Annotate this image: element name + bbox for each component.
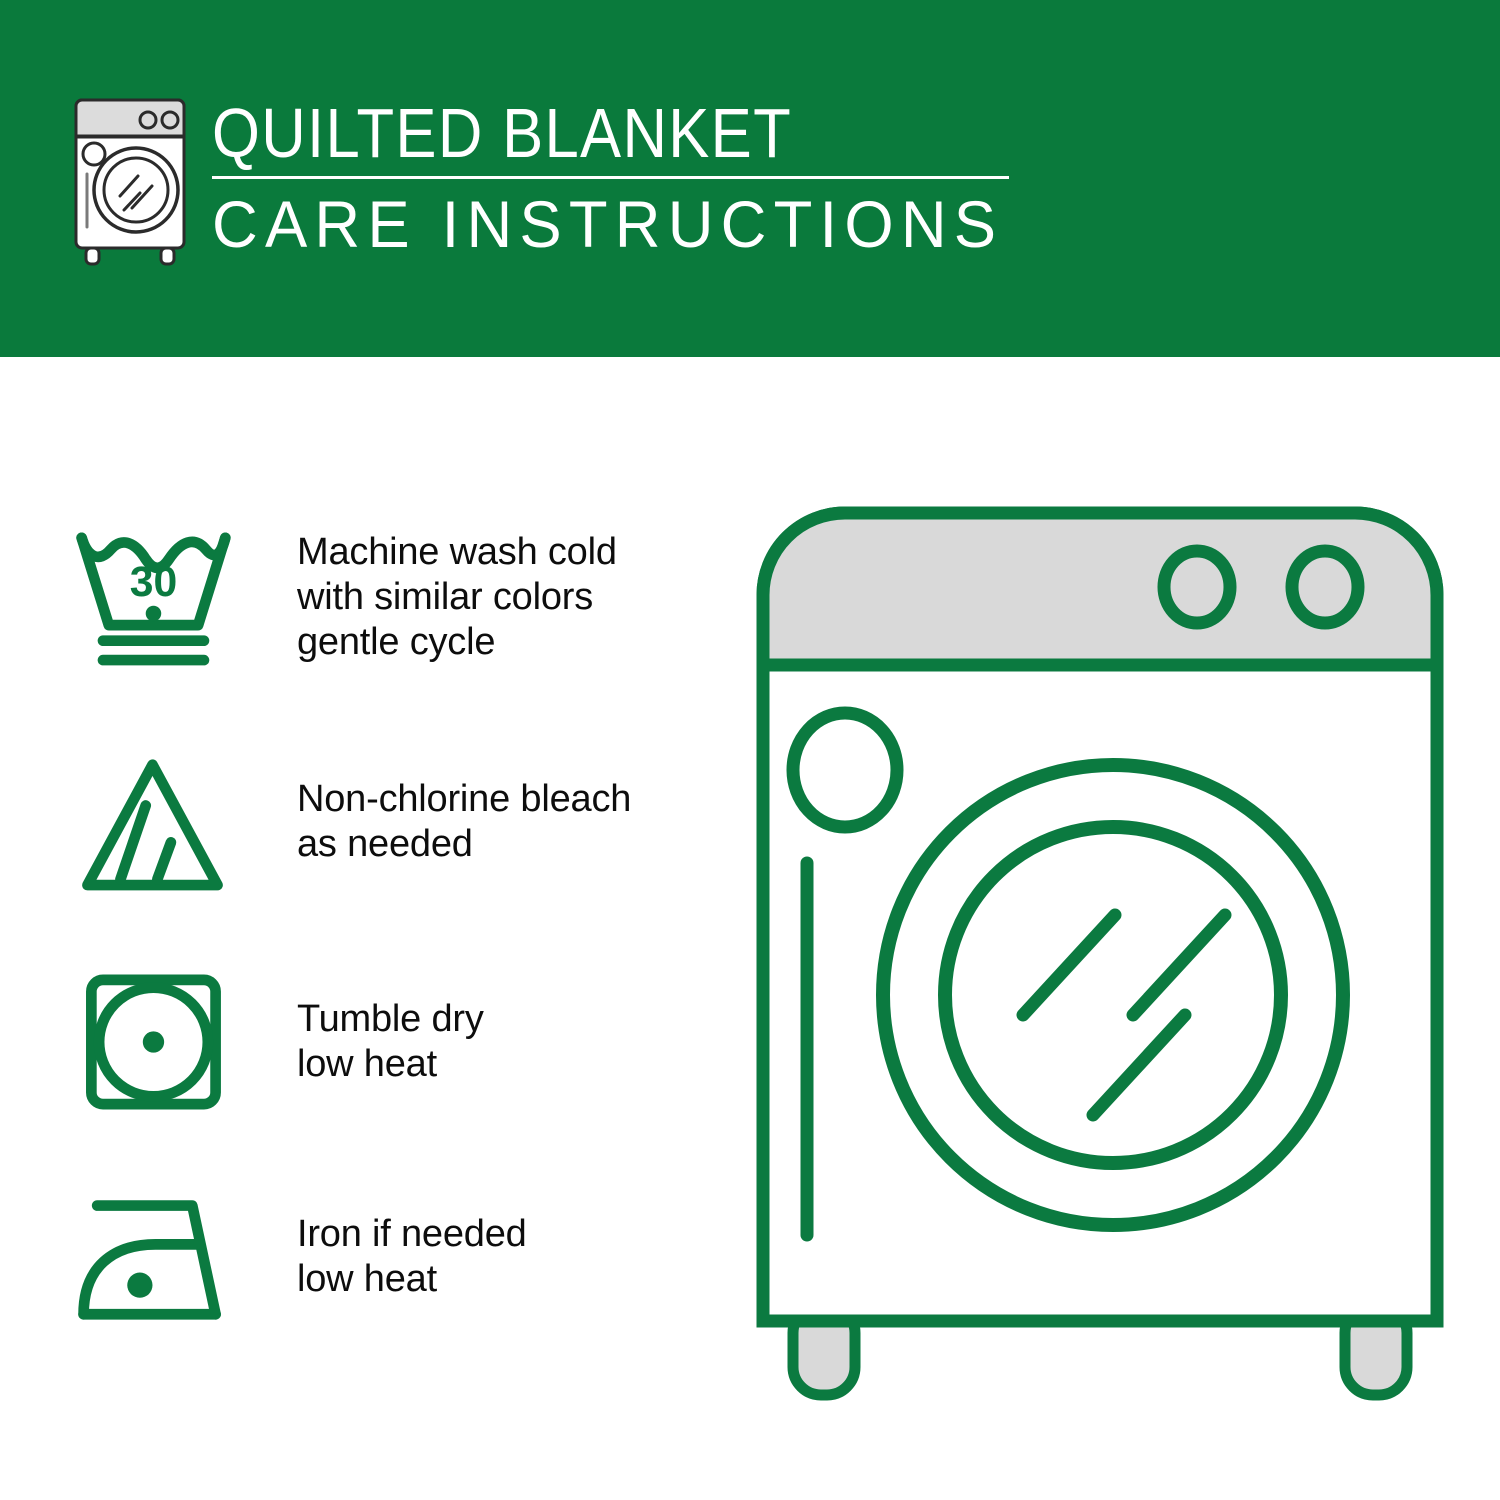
care-text-line: low heat (297, 1257, 527, 1302)
care-row-tumble-dry: Tumble dry low heat (70, 967, 710, 1117)
page-title: QUILTED BLANKET (212, 96, 937, 170)
care-text-line: Machine wash cold (297, 530, 617, 575)
care-text-line: low heat (297, 1042, 484, 1087)
header-content: QUILTED BLANKET CARE INSTRUCTIONS (60, 92, 1036, 267)
care-instruction-list: 30 Machine wash cold with similar colors… (0, 357, 720, 1500)
care-row-wash: 30 Machine wash cold with similar colors… (70, 522, 710, 672)
care-text-line: with similar colors (297, 575, 617, 620)
care-text-wash: Machine wash cold with similar colors ge… (297, 530, 617, 665)
care-text-line: gentle cycle (297, 620, 617, 665)
wash-tub-30-gentle-icon: 30 (70, 522, 235, 672)
title-divider (212, 176, 1009, 179)
wash-temperature-value: 30 (130, 558, 177, 606)
non-chlorine-bleach-triangle-icon (70, 747, 235, 897)
front-load-washing-machine-illustration (745, 495, 1455, 1420)
care-row-iron: Iron if needed low heat (70, 1182, 710, 1332)
page-subtitle: CARE INSTRUCTIONS (212, 189, 1003, 259)
care-text-tumble-dry: Tumble dry low heat (297, 997, 484, 1087)
care-text-line: Tumble dry (297, 997, 484, 1042)
care-text-line: Iron if needed (297, 1212, 527, 1257)
care-text-line: Non-chlorine bleach (297, 777, 631, 822)
control-panel (763, 513, 1437, 665)
tumble-dry-low-heat-icon (70, 967, 235, 1117)
washing-machine-icon (60, 92, 200, 267)
header-banner: QUILTED BLANKET CARE INSTRUCTIONS (0, 0, 1500, 357)
care-row-bleach: Non-chlorine bleach as needed (70, 747, 710, 897)
care-text-line: as needed (297, 822, 631, 867)
care-text-iron: Iron if needed low heat (297, 1212, 527, 1302)
header-title-group: QUILTED BLANKET CARE INSTRUCTIONS (212, 92, 1036, 259)
care-text-bleach: Non-chlorine bleach as needed (297, 777, 631, 867)
iron-low-heat-icon (70, 1182, 235, 1332)
